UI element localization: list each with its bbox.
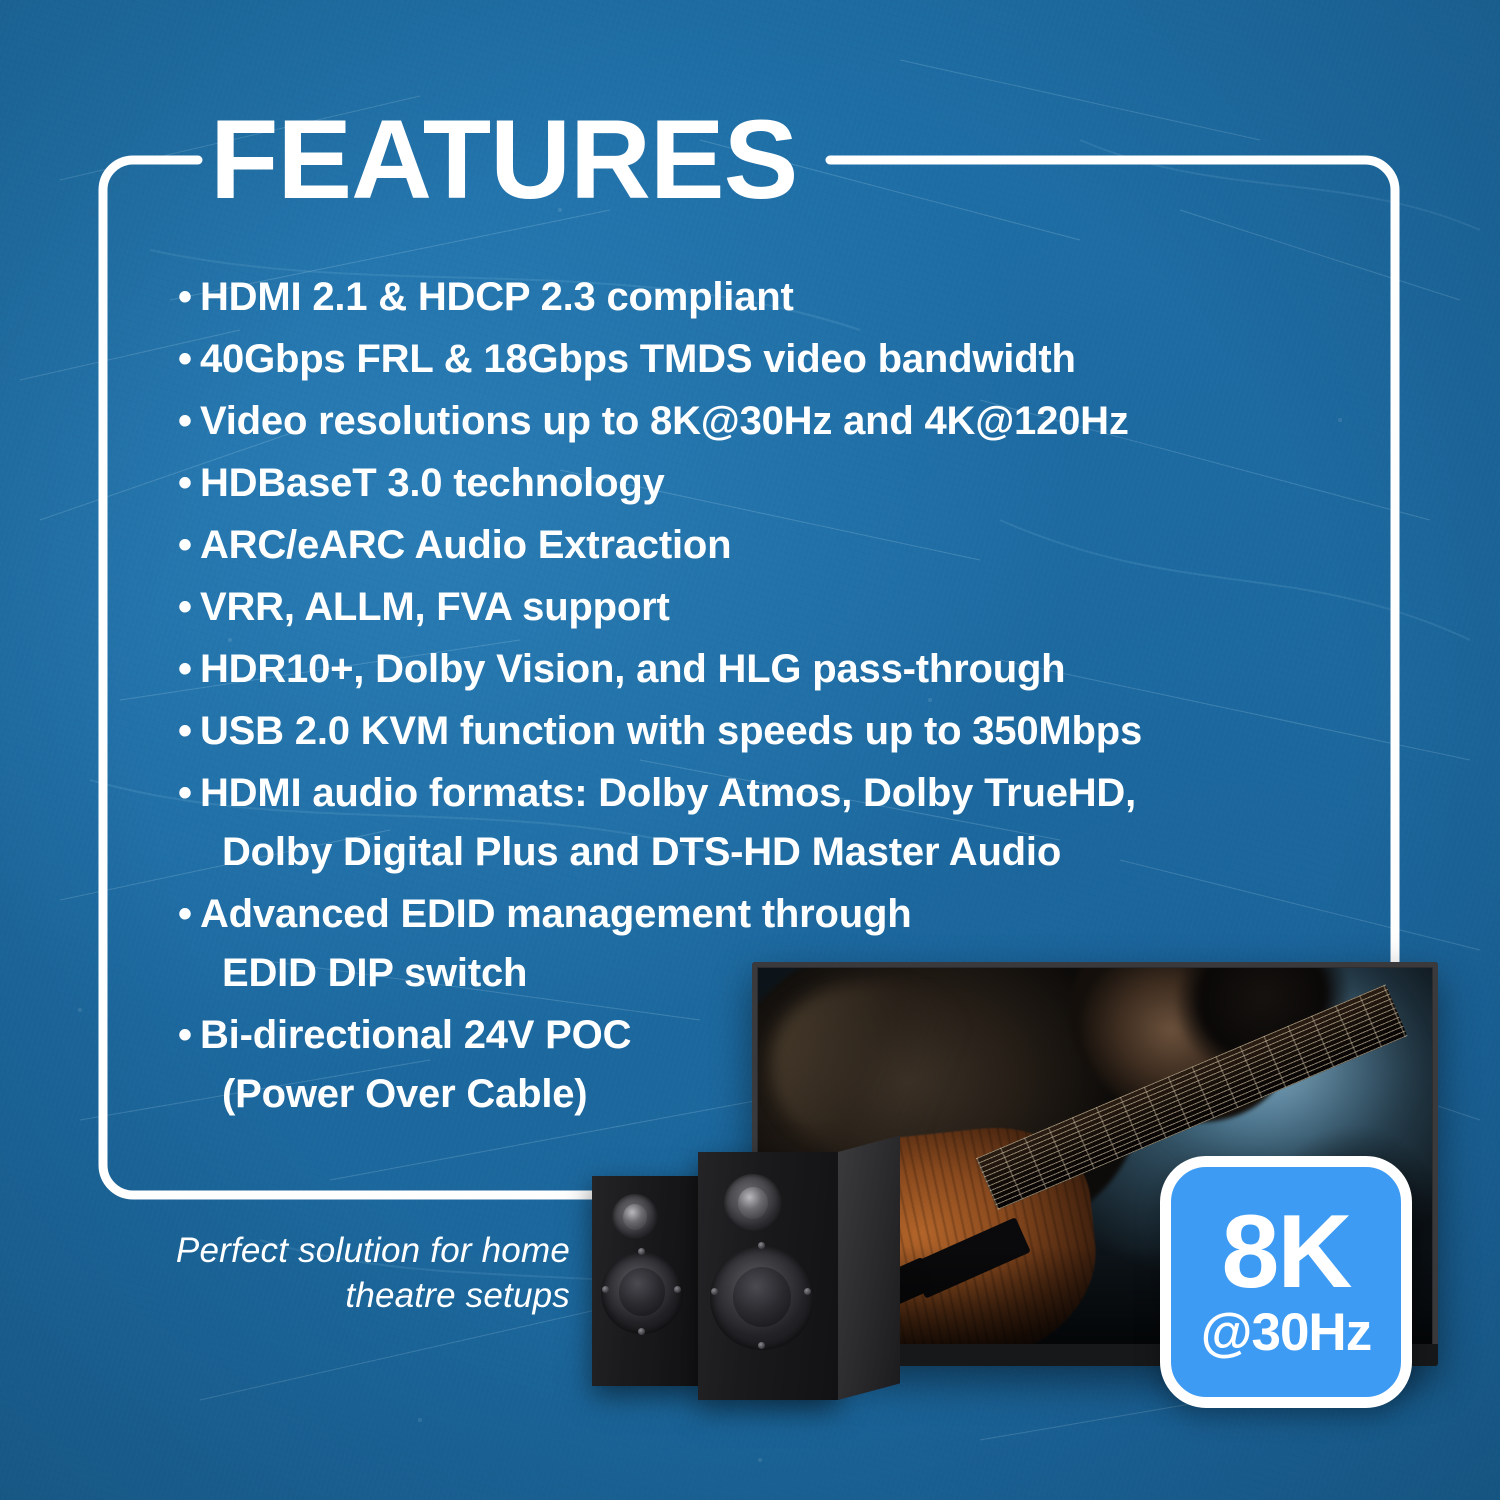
bullet-icon: • (178, 885, 200, 944)
bullet-icon: • (178, 392, 200, 451)
tweeter-driver (724, 1174, 782, 1232)
list-item-line1: ARC/eARC Audio Extraction (200, 523, 731, 567)
list-item: • HDBaseT 3.0 technology (178, 454, 1363, 513)
list-item-line2: Dolby Digital Plus and DTS-HD Master Aud… (222, 823, 1363, 882)
bullet-icon: • (178, 454, 200, 513)
caption-line1: Perfect solution for home (176, 1231, 570, 1270)
bullet-icon: • (178, 268, 200, 327)
page-title: FEATURES (210, 104, 797, 216)
badge-refresh-rate: @30Hz (1201, 1306, 1371, 1359)
speaker-rear (592, 1176, 704, 1386)
bullet-icon: • (178, 1006, 200, 1065)
list-item-line1: HDMI audio formats: Dolby Atmos, Dolby T… (200, 771, 1136, 815)
bullet-icon: • (178, 330, 200, 389)
list-item-line1: Advanced EDID management through (200, 892, 911, 936)
list-item: • HDMI audio formats: Dolby Atmos, Dolby… (178, 764, 1363, 882)
list-item-line1: HDMI 2.1 & HDCP 2.3 compliant (200, 275, 794, 319)
list-item-line1: VRR, ALLM, FVA support (200, 585, 670, 629)
speaker-front (698, 1152, 838, 1400)
list-item: • HDMI 2.1 & HDCP 2.3 compliant (178, 268, 1363, 327)
caption-line2: theatre setups (345, 1276, 570, 1315)
list-item-line1: USB 2.0 KVM function with speeds up to 3… (200, 709, 1142, 753)
resolution-badge: 8K @30Hz (1160, 1156, 1412, 1408)
list-item-line1: HDBaseT 3.0 technology (200, 461, 665, 505)
list-item-line1: Bi-directional 24V POC (200, 1013, 631, 1057)
bullet-icon: • (178, 702, 200, 761)
bullet-icon: • (178, 516, 200, 575)
list-item: • Video resolutions up to 8K@30Hz and 4K… (178, 392, 1363, 451)
list-item-line1: HDR10+, Dolby Vision, and HLG pass-throu… (200, 647, 1065, 691)
tweeter-driver (612, 1194, 658, 1240)
list-item: • VRR, ALLM, FVA support (178, 578, 1363, 637)
woofer-driver (710, 1246, 814, 1350)
list-item: • USB 2.0 KVM function with speeds up to… (178, 702, 1363, 761)
list-item: • HDR10+, Dolby Vision, and HLG pass-thr… (178, 640, 1363, 699)
list-item-line1: Video resolutions up to 8K@30Hz and 4K@1… (200, 399, 1129, 443)
woofer-driver (601, 1252, 683, 1334)
bullet-icon: • (178, 640, 200, 699)
feature-graphic: FEATURES • HDMI 2.1 & HDCP 2.3 compliant… (0, 0, 1500, 1500)
bullet-icon: • (178, 764, 200, 823)
caption-text: Perfect solution for home theatre setups (120, 1228, 570, 1318)
list-item-line1: 40Gbps FRL & 18Gbps TMDS video bandwidth (200, 337, 1076, 381)
list-item: • ARC/eARC Audio Extraction (178, 516, 1363, 575)
bullet-icon: • (178, 578, 200, 637)
list-item: • 40Gbps FRL & 18Gbps TMDS video bandwid… (178, 330, 1363, 389)
badge-resolution: 8K (1222, 1205, 1351, 1301)
